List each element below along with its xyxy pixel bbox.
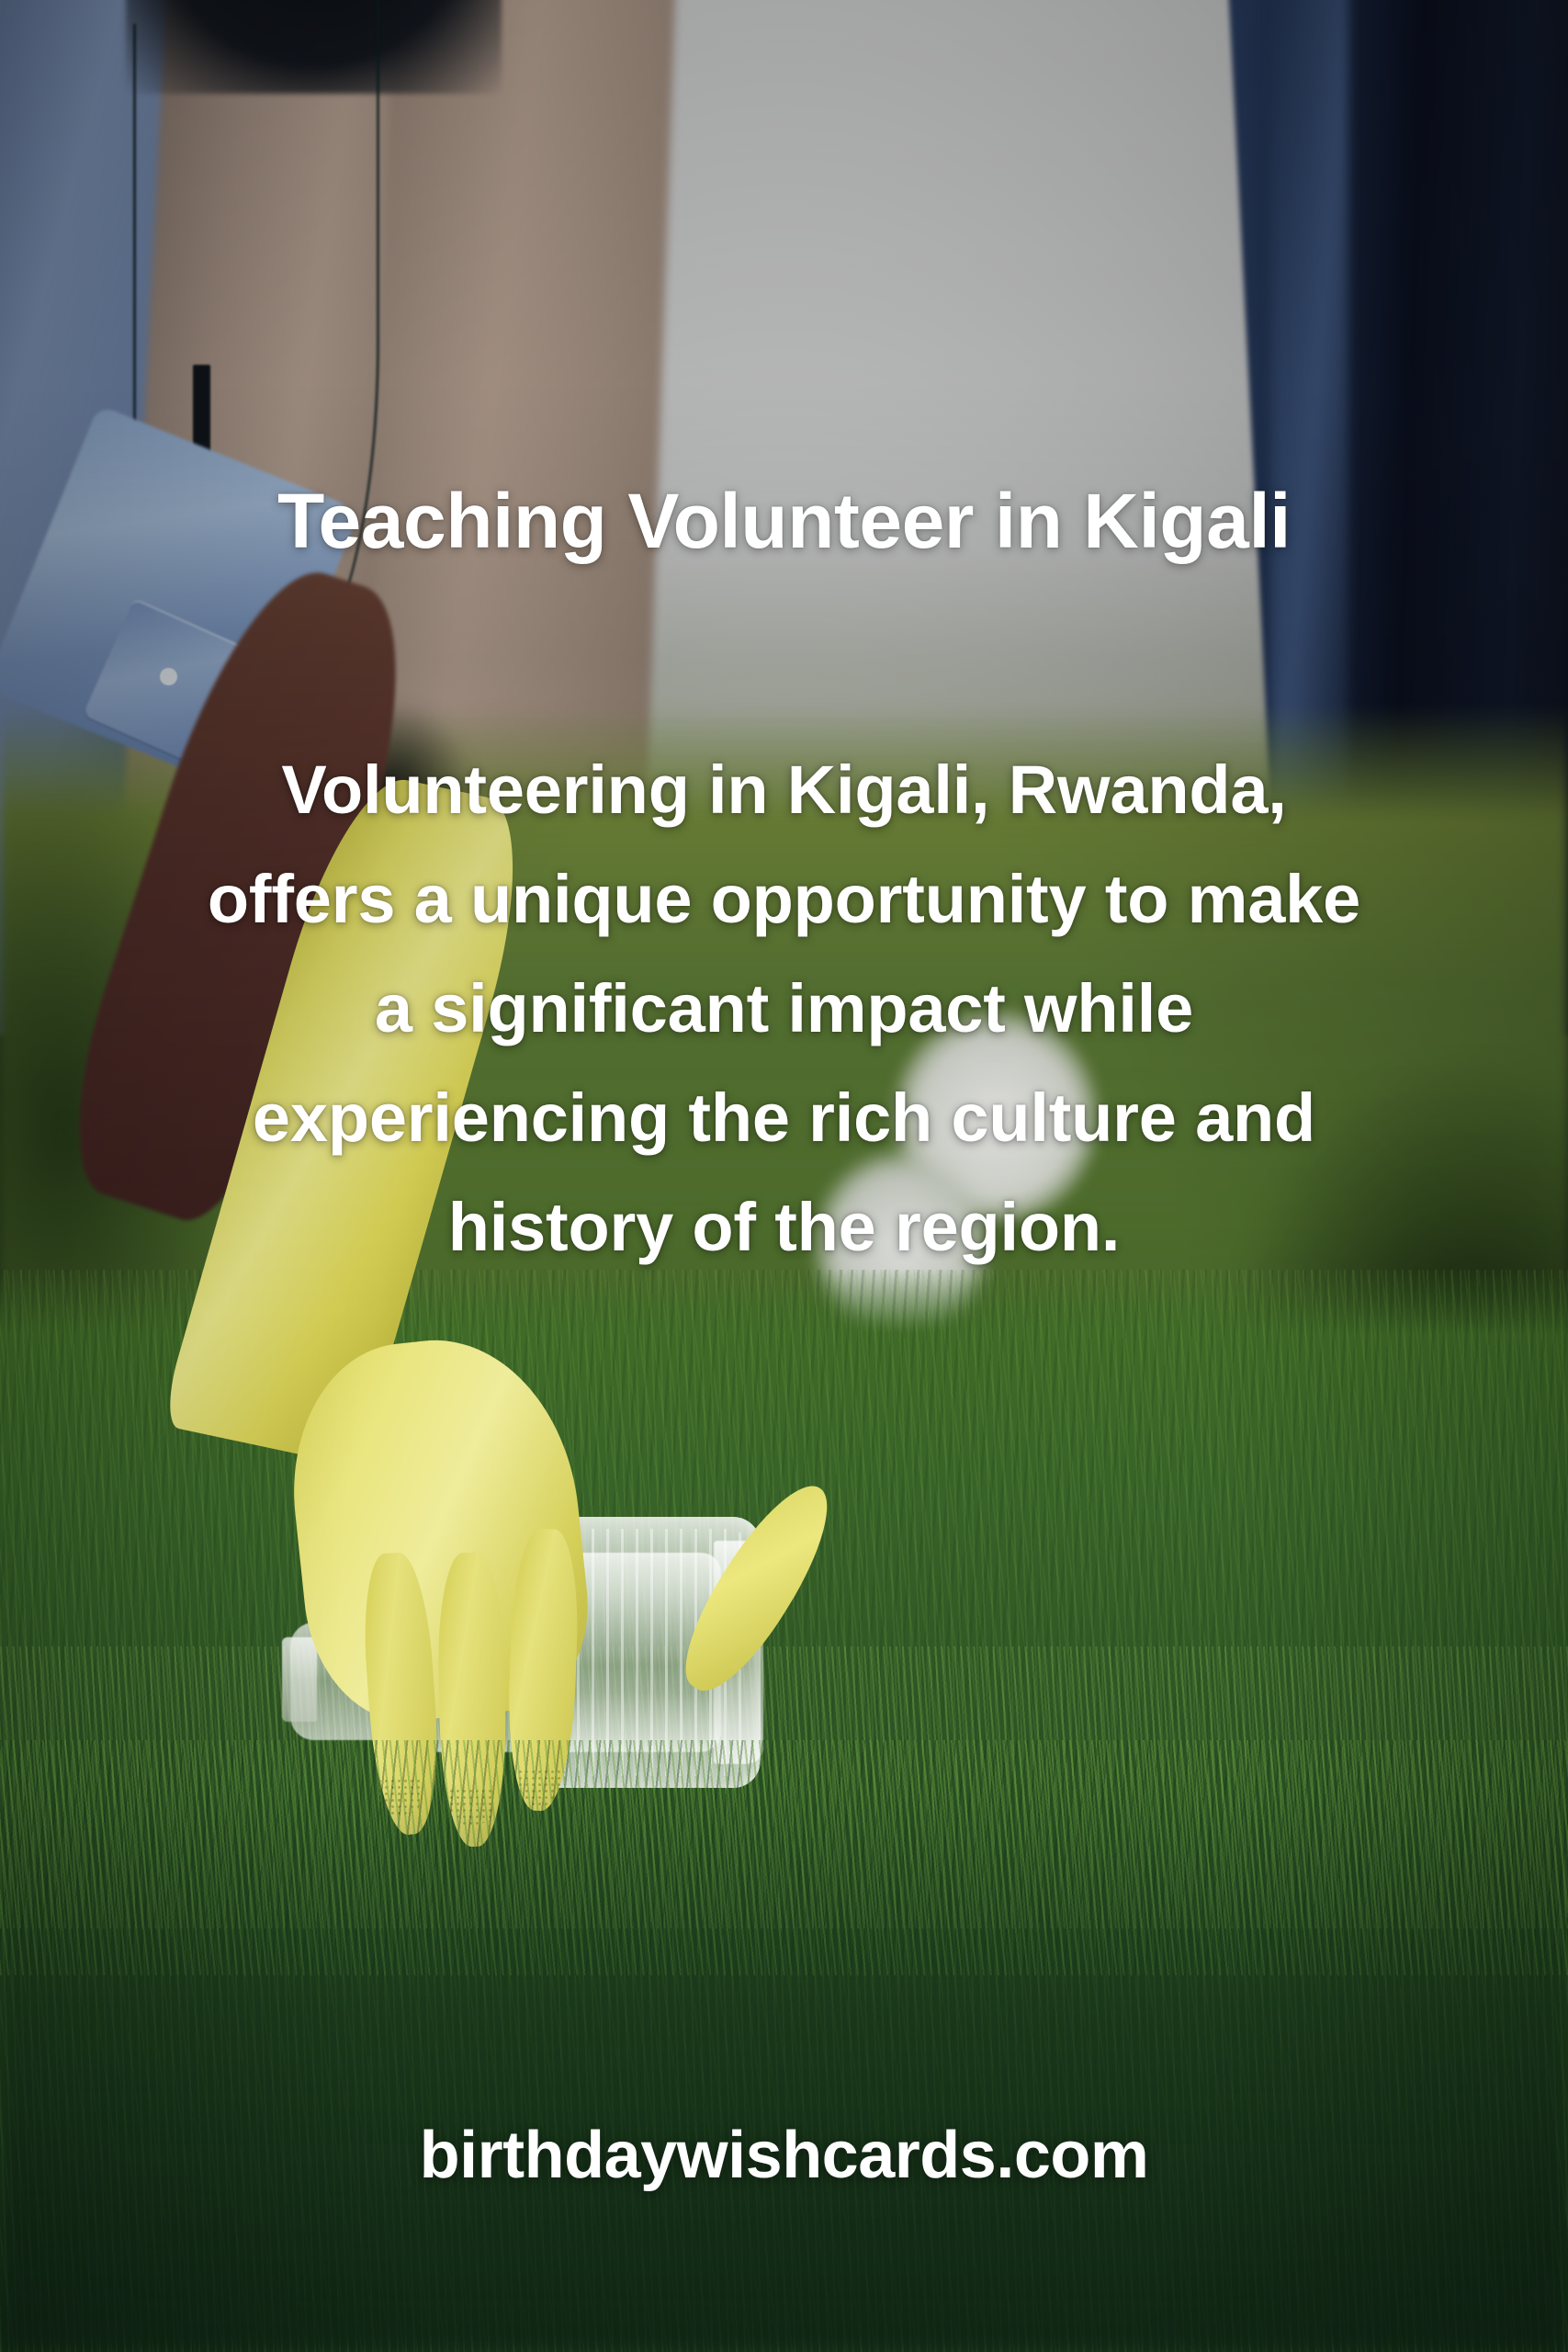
text-overlay: Teaching Volunteer in Kigali Volunteerin… (0, 0, 1568, 2352)
card-subtitle: Volunteering in Kigali, Rwanda, offers a… (187, 735, 1382, 1282)
card-title: Teaching Volunteer in Kigali (0, 481, 1568, 561)
site-url: birthdaywishcards.com (0, 2118, 1568, 2193)
social-card: Teaching Volunteer in Kigali Volunteerin… (0, 0, 1568, 2352)
